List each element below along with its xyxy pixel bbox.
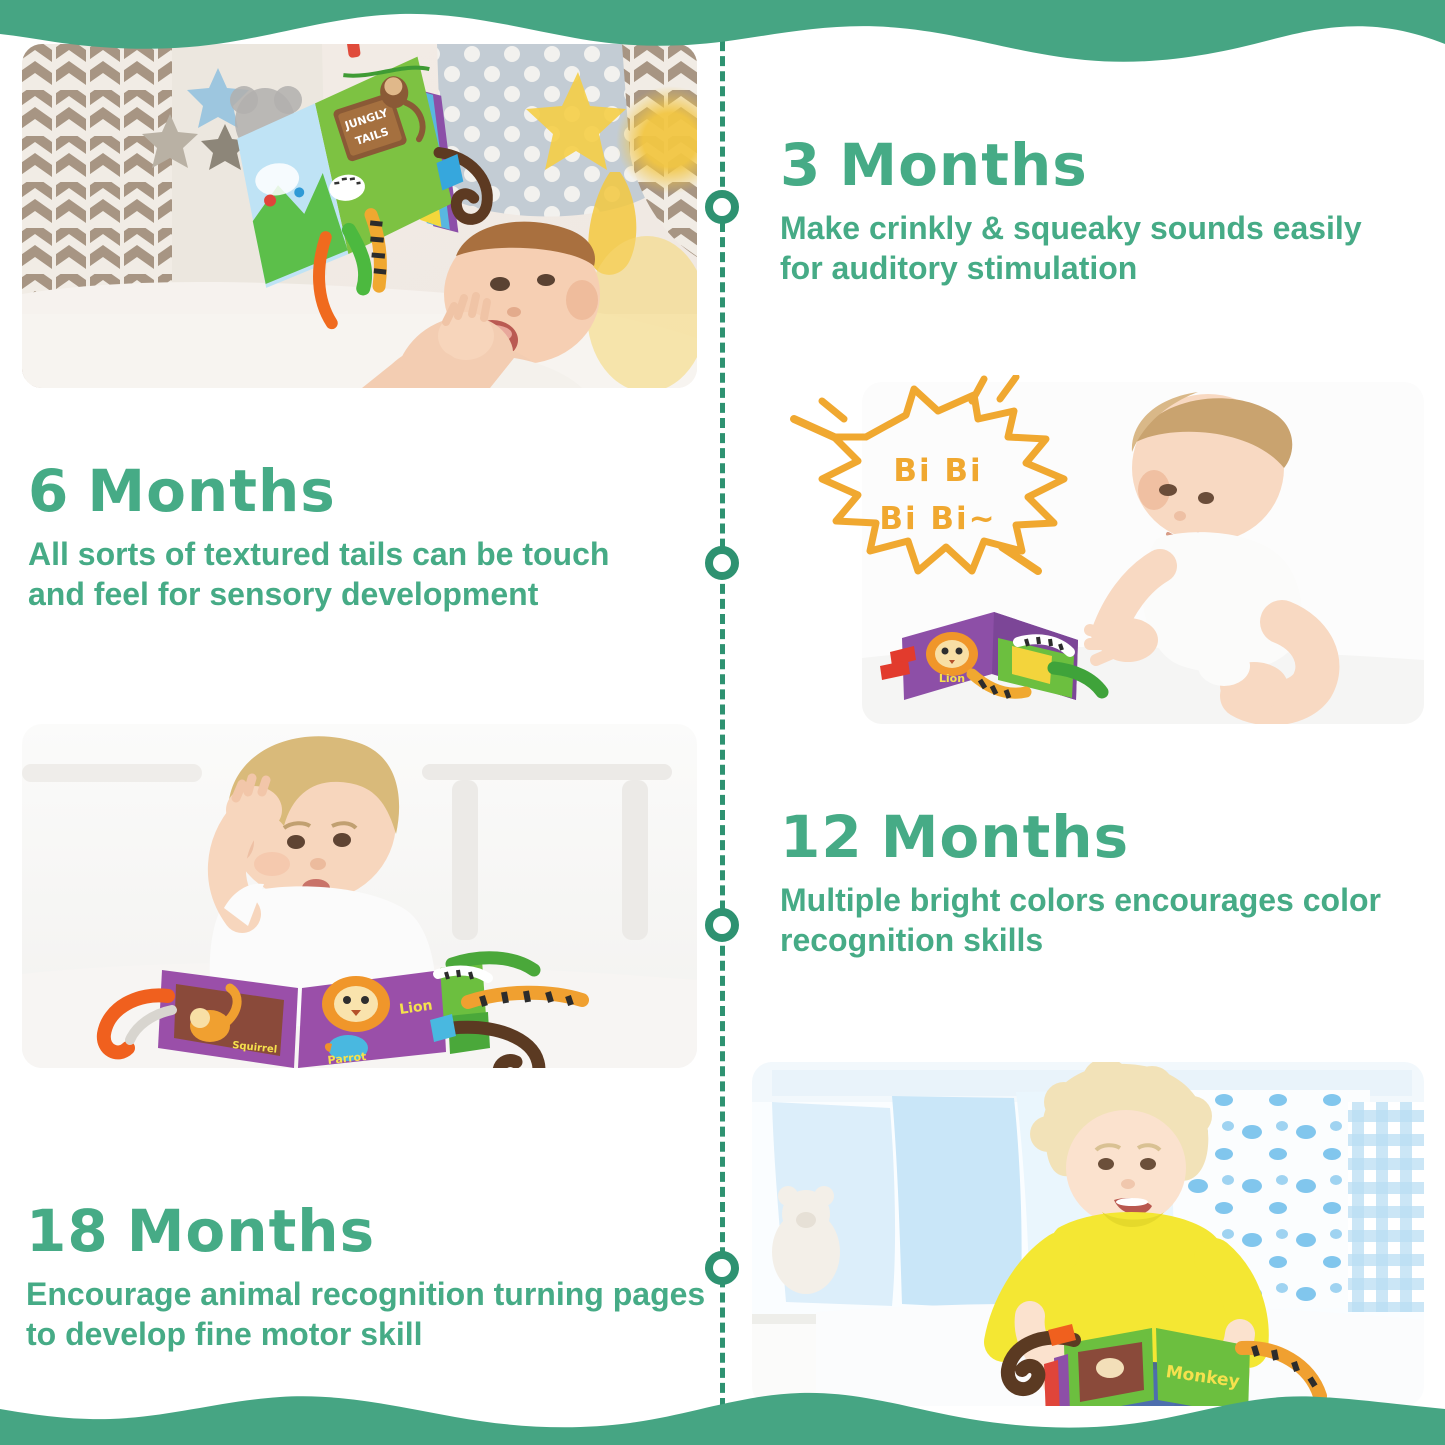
age-heading-12-months: 12Months — [780, 808, 1400, 866]
age-unit: Months — [87, 457, 335, 525]
timeline-node-1 — [705, 190, 739, 224]
photo-child-yellow-shirt: Monkey — [752, 1062, 1424, 1406]
age-number: 18 — [26, 1197, 109, 1265]
section-3-months: 3Months Make crinkly & squeaky sounds ea… — [780, 136, 1380, 289]
section-description: Encourage animal recognition turning pag… — [26, 1274, 726, 1355]
svg-text:Lion: Lion — [939, 672, 965, 685]
speech-burst-text: Bi Bi Bi Bi~ — [788, 447, 1088, 543]
divider-dashed-line — [720, 26, 725, 1408]
age-heading-18-months: 18Months — [26, 1202, 726, 1260]
section-description: Multiple bright colors encourages color … — [780, 880, 1400, 961]
age-unit: Months — [839, 131, 1087, 199]
age-heading-3-months: 3Months — [780, 136, 1380, 194]
age-number: 12 — [780, 803, 863, 871]
speech-burst: Bi Bi Bi Bi~ — [788, 375, 1088, 590]
timeline-node-3 — [705, 908, 739, 942]
section-description: All sorts of textured tails can be touch… — [28, 534, 648, 615]
timeline-node-2 — [705, 546, 739, 580]
timeline-divider — [717, 26, 727, 1408]
product-feature-infographic: JUNGLY TAILS — [0, 0, 1445, 1445]
age-unit: Months — [127, 1197, 375, 1265]
speech-line-2: Bi Bi~ — [788, 495, 1088, 543]
speech-line-1: Bi Bi — [788, 447, 1088, 495]
section-description: Make crinkly & squeaky sounds easily for… — [780, 208, 1380, 289]
photo-baby-lying-with-book: JUNGLY TAILS — [22, 44, 697, 388]
age-heading-6-months: 6Months — [28, 462, 648, 520]
section-6-months: 6Months All sorts of textured tails can … — [28, 462, 648, 615]
section-18-months: 18Months Encourage animal recognition tu… — [26, 1202, 726, 1355]
age-unit: Months — [881, 803, 1129, 871]
photo-toddler-reading-book: Squirrel Lion Parrot — [22, 724, 697, 1068]
age-number: 6 — [28, 457, 69, 525]
age-number: 3 — [780, 131, 821, 199]
section-12-months: 12Months Multiple bright colors encourag… — [780, 808, 1400, 961]
